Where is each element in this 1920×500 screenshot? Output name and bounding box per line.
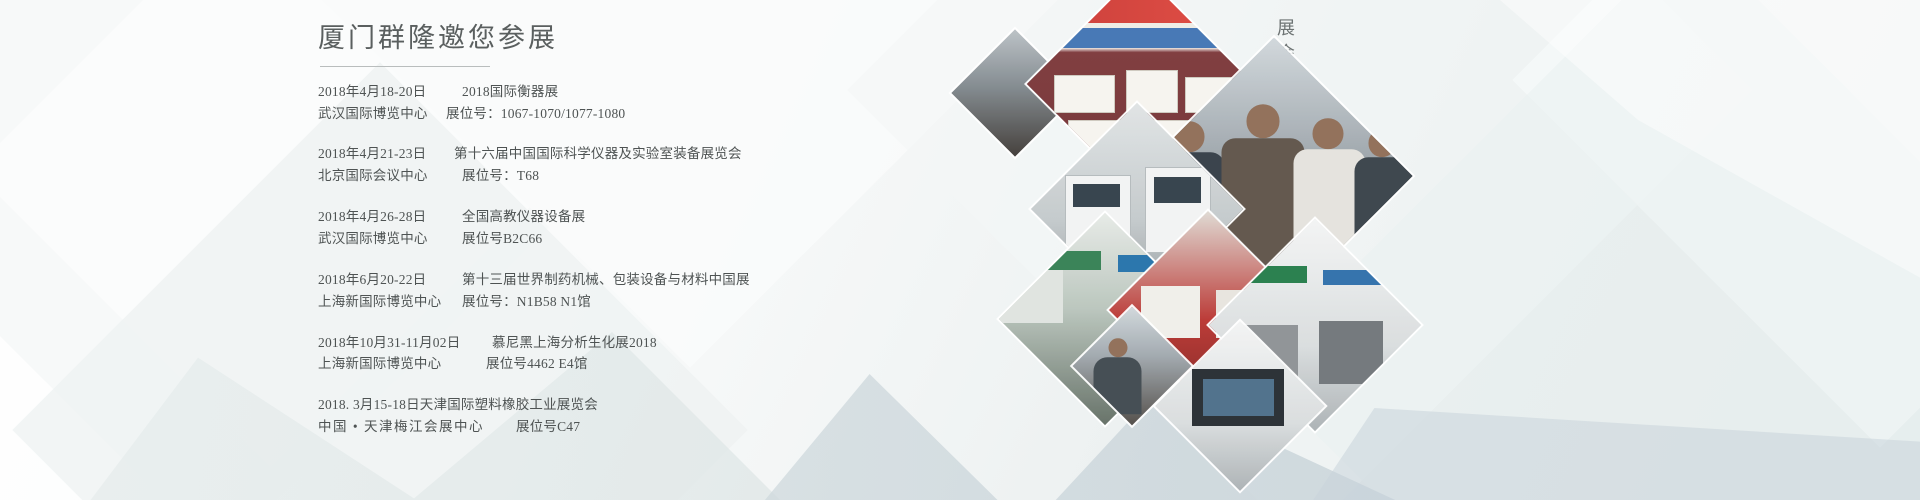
event-venue: 上海新国际博览中心 [318, 353, 478, 375]
event-venue: 武汉国际博览中心 [318, 103, 440, 125]
event-booth: 展位号：T68 [440, 165, 539, 187]
event-booth: 展位号：N1B58 N1馆 [440, 291, 591, 313]
event-row-secondary: 武汉国际博览中心 展位号B2C66 [318, 228, 1038, 250]
event-row-primary: 2018年4月18-20日 2018国际衡器展 [318, 81, 1038, 103]
event-name: 全国高教仪器设备展 [440, 206, 585, 228]
event-list-panel: 厦门群隆邀您参展 2018年4月18-20日 2018国际衡器展 武汉国际博览中… [318, 22, 1038, 457]
event-item: 2018年4月21-23日 第十六届中国国际科学仪器及实验室装备展览会 北京国际… [318, 143, 1038, 187]
event-row-primary: 2018年4月21-23日 第十六届中国国际科学仪器及实验室装备展览会 [318, 143, 1038, 165]
event-name: 第十三届世界制药机械、包装设备与材料中国展 [440, 269, 750, 291]
event-item: 2018年6月20-22日 第十三届世界制药机械、包装设备与材料中国展 上海新国… [318, 269, 1038, 313]
event-row-secondary: 武汉国际博览中心 展位号：1067-1070/1077-1080 [318, 103, 1038, 125]
event-row-secondary: 中国 • 天津梅江会展中心 展位号C47 [318, 416, 1038, 438]
event-name: 第十六届中国国际科学仪器及实验室装备展览会 [440, 143, 742, 165]
event-row-primary: 2018. 3月15-18日天津国际塑料橡胶工业展览会 [318, 394, 1038, 416]
event-row-primary: 2018年6月20-22日 第十三届世界制药机械、包装设备与材料中国展 [318, 269, 1038, 291]
event-name: 慕尼黑上海分析生化展2018 [478, 332, 657, 354]
event-date: 2018年6月20-22日 [318, 269, 440, 291]
event-venue: 中国 • 天津梅江会展中心 [318, 416, 508, 438]
event-row-secondary: 上海新国际博览中心 展位号：N1B58 N1馆 [318, 291, 1038, 313]
event-row-primary: 2018年10月31-11月02日 慕尼黑上海分析生化展2018 [318, 332, 1038, 354]
page-title: 厦门群隆邀您参展 [318, 22, 1038, 64]
event-name: 2018国际衡器展 [440, 81, 558, 103]
event-booth: 展位号：1067-1070/1077-1080 [440, 103, 625, 125]
event-row-secondary: 上海新国际博览中心 展位号4462 E4馆 [318, 353, 1038, 375]
event-item: 2018年10月31-11月02日 慕尼黑上海分析生化展2018 上海新国际博览… [318, 332, 1038, 376]
event-item: 2018年4月26-28日 全国高教仪器设备展 武汉国际博览中心 展位号B2C6… [318, 206, 1038, 250]
title-underline-divider [320, 66, 490, 67]
background-facet [1500, 0, 1920, 300]
background-facet [1512, 0, 1920, 448]
photo-collage [1030, 0, 1450, 500]
event-date: 2018年4月26-28日 [318, 206, 440, 228]
event-venue: 武汉国际博览中心 [318, 228, 440, 250]
event-date: 2018. 3月15-18日天津国际塑料橡胶工业展览会 [318, 394, 598, 416]
event-row-primary: 2018年4月26-28日 全国高教仪器设备展 [318, 206, 1038, 228]
event-date: 2018年4月21-23日 [318, 143, 440, 165]
event-booth: 展位号B2C66 [440, 228, 542, 250]
event-date: 2018年4月18-20日 [318, 81, 440, 103]
exhibition-invitation-banner: 厦门群隆邀您参展 2018年4月18-20日 2018国际衡器展 武汉国际博览中… [0, 0, 1920, 500]
event-venue: 上海新国际博览中心 [318, 291, 440, 313]
event-booth: 展位号4462 E4馆 [478, 353, 588, 375]
event-booth: 展位号C47 [508, 416, 580, 438]
event-row-secondary: 北京国际会议中心 展位号：T68 [318, 165, 1038, 187]
event-venue: 北京国际会议中心 [318, 165, 440, 187]
event-date: 2018年10月31-11月02日 [318, 332, 478, 354]
event-item: 2018. 3月15-18日天津国际塑料橡胶工业展览会 中国 • 天津梅江会展中… [318, 394, 1038, 438]
event-item: 2018年4月18-20日 2018国际衡器展 武汉国际博览中心 展位号：106… [318, 81, 1038, 125]
